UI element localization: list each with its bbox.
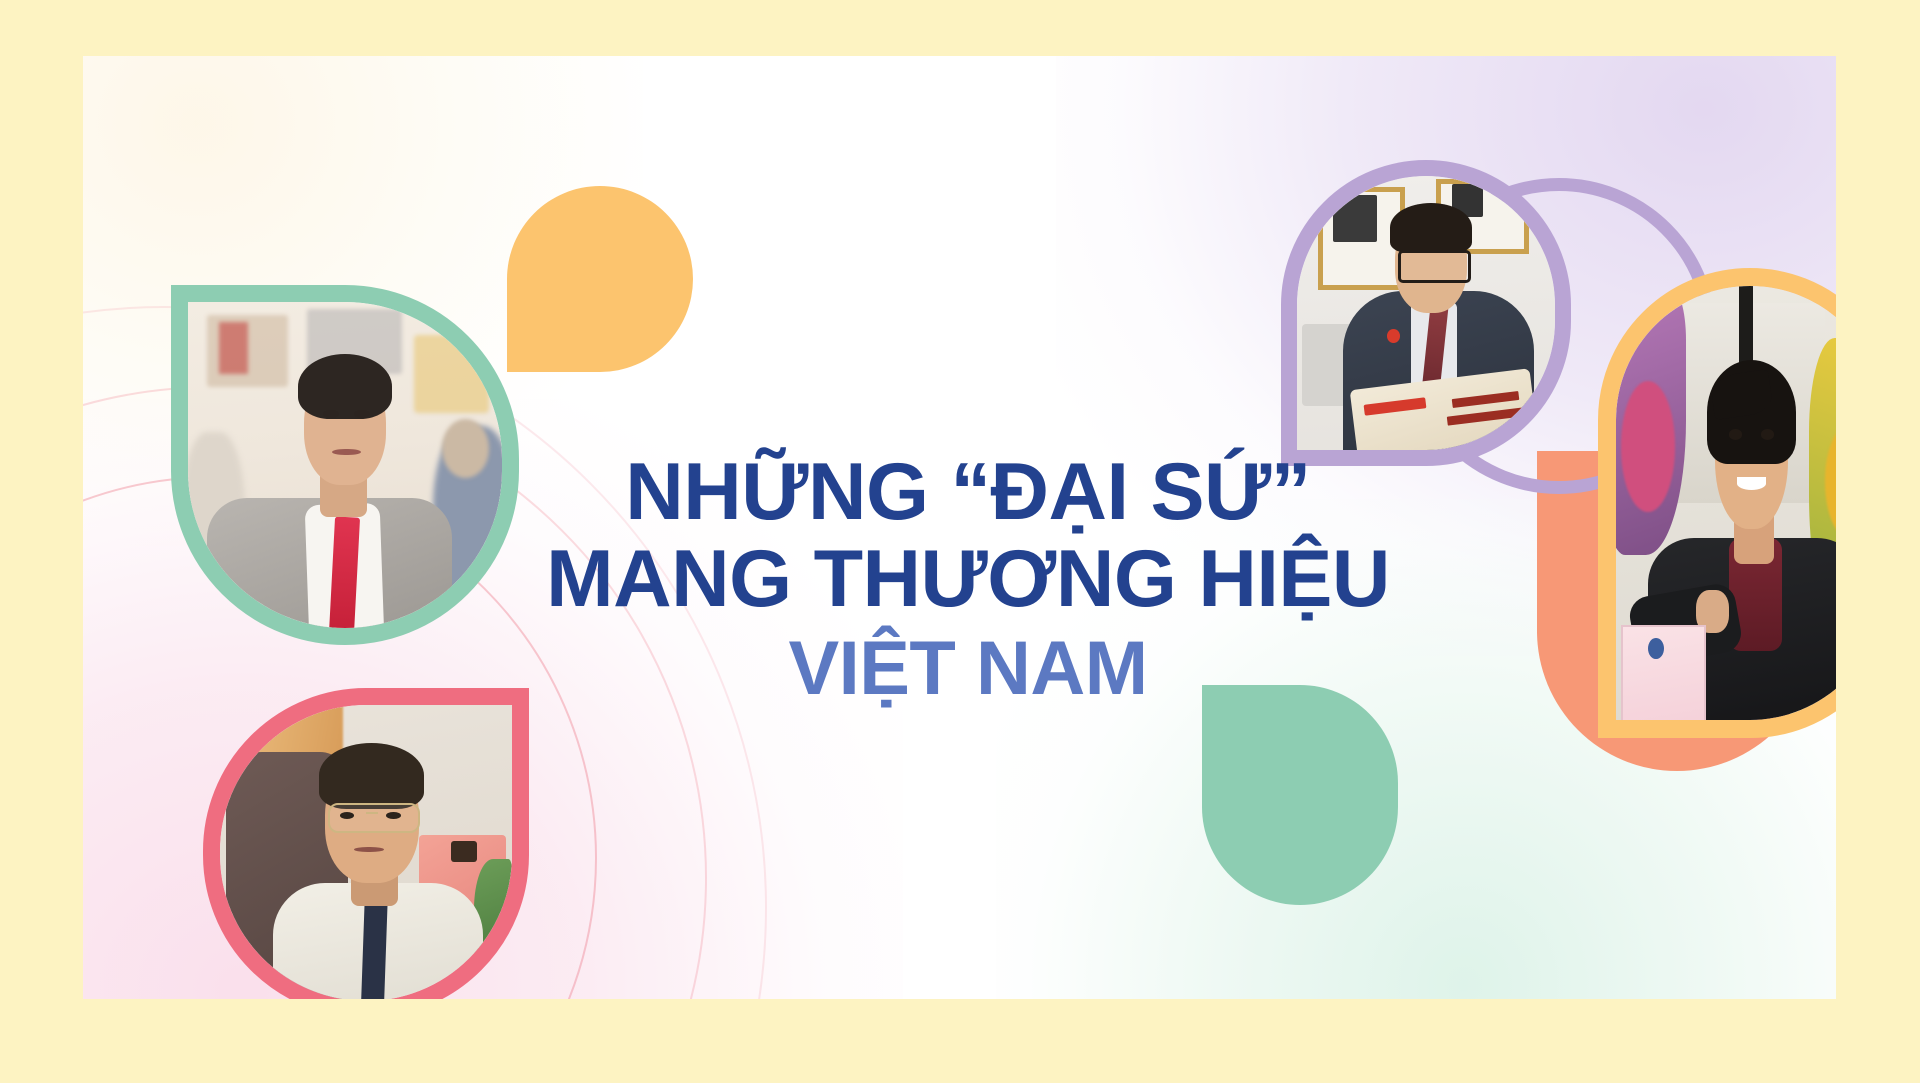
headline-line-3: VIỆT NAM: [453, 630, 1483, 708]
photo-woman-black-blazer-flowers: [1616, 286, 1836, 720]
photo-young-man-reading-book: [1297, 176, 1555, 450]
photo-man-white-shirt-glasses: [220, 705, 512, 999]
headline-line-2: MANG THƯƠNG HIỆU: [453, 538, 1483, 621]
poster-canvas: NHỮNG “ĐẠI SỨ” MANG THƯƠNG HIỆU VIỆT NAM: [0, 0, 1920, 1083]
photo-frame-man-white-shirt-glasses: [203, 688, 529, 999]
poster-card: NHỮNG “ĐẠI SỨ” MANG THƯƠNG HIỆU VIỆT NAM: [83, 56, 1836, 999]
green-blob: [1202, 685, 1398, 905]
photo-frame-woman-black-blazer-flowers: [1598, 268, 1836, 738]
poster-headline: NHỮNG “ĐẠI SỨ” MANG THƯƠNG HIỆU VIỆT NAM: [453, 451, 1483, 708]
photo-frame-young-man-reading-book: [1281, 160, 1571, 466]
headline-line-1: NHỮNG “ĐẠI SỨ”: [453, 451, 1483, 534]
orange-blob: [507, 186, 693, 372]
